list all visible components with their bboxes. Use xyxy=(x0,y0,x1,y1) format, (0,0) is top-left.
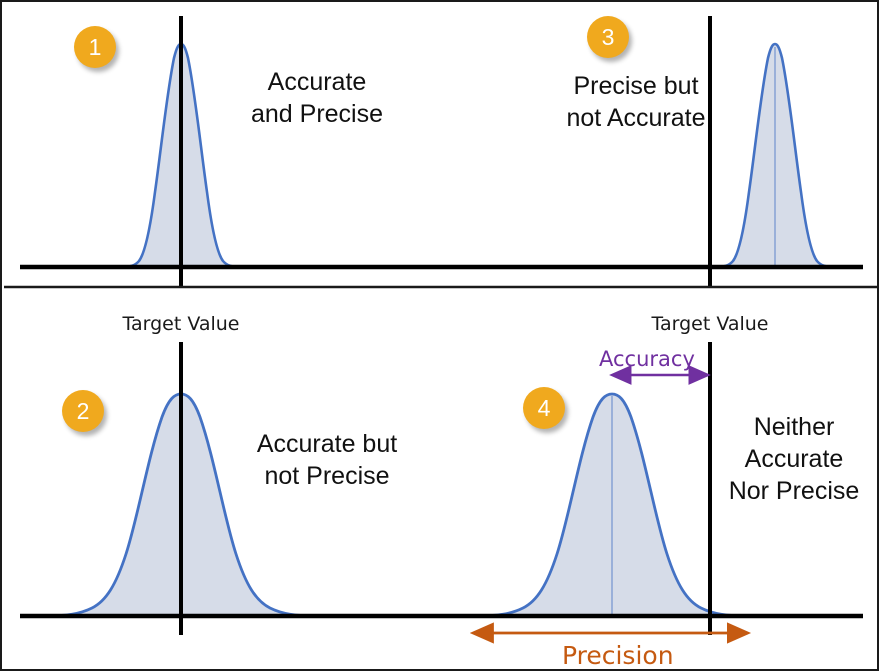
panel-2-caption: Accurate but not Precise xyxy=(212,428,442,492)
target-value-label-left: Target Value xyxy=(111,313,251,335)
accuracy-label: Accuracy xyxy=(599,347,695,371)
panel-badge-1: 1 xyxy=(74,26,116,68)
panel-1-caption: Accurate and Precise xyxy=(217,66,417,130)
panel-badge-4: 4 xyxy=(523,387,565,429)
precision-label: Precision xyxy=(562,641,674,670)
panel-badge-4-number: 4 xyxy=(538,397,551,420)
target-value-label-right: Target Value xyxy=(640,313,780,335)
panel-4-caption: Neither Accurate Nor Precise xyxy=(714,411,874,507)
panel-3-caption: Precise but not Accurate xyxy=(530,70,742,134)
panel-badge-1-number: 1 xyxy=(89,36,102,59)
panel-badge-3-number: 3 xyxy=(602,26,615,49)
panel-badge-2-number: 2 xyxy=(77,400,90,423)
diagram-canvas xyxy=(2,2,879,671)
panel-badge-3: 3 xyxy=(587,16,629,58)
panel-4-curve xyxy=(477,394,747,616)
panel-badge-2: 2 xyxy=(62,390,104,432)
accuracy-precision-diagram: 1 3 2 4 Accurate and Precise Precise but… xyxy=(0,0,879,671)
